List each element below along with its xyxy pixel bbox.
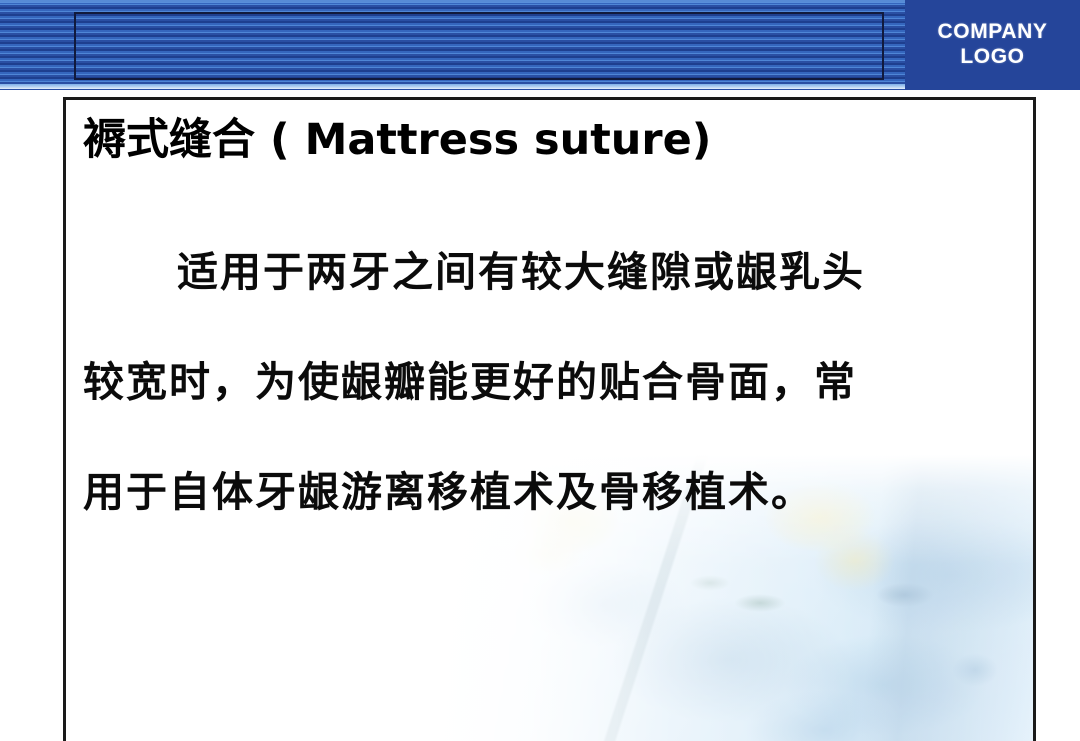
slide-title: 褥式缝合 ( Mattress suture) [83, 105, 711, 167]
slide-text-area: 褥式缝合 ( Mattress suture) 适用于两牙之间有较大缝隙或龈乳头… [63, 97, 1036, 741]
body-line-2: 较宽时，为使龈瓣能更好的贴合骨面，常 [83, 327, 1013, 437]
slide-canvas: COMPANY LOGO 褥式缝合 ( Mattress suture) 适用于… [0, 0, 1080, 741]
header-inner-frame [74, 12, 884, 80]
company-logo-line-1: COMPANY [938, 20, 1048, 45]
body-line-1: 适用于两牙之间有较大缝隙或龈乳头 [83, 217, 1013, 327]
slide-body: 适用于两牙之间有较大缝隙或龈乳头 较宽时，为使龈瓣能更好的贴合骨面，常 用于自体… [83, 217, 1013, 547]
company-logo-panel: COMPANY LOGO [905, 0, 1080, 90]
company-logo-line-2: LOGO [960, 45, 1024, 70]
body-line-3: 用于自体牙龈游离移植术及骨移植术。 [83, 437, 1013, 547]
